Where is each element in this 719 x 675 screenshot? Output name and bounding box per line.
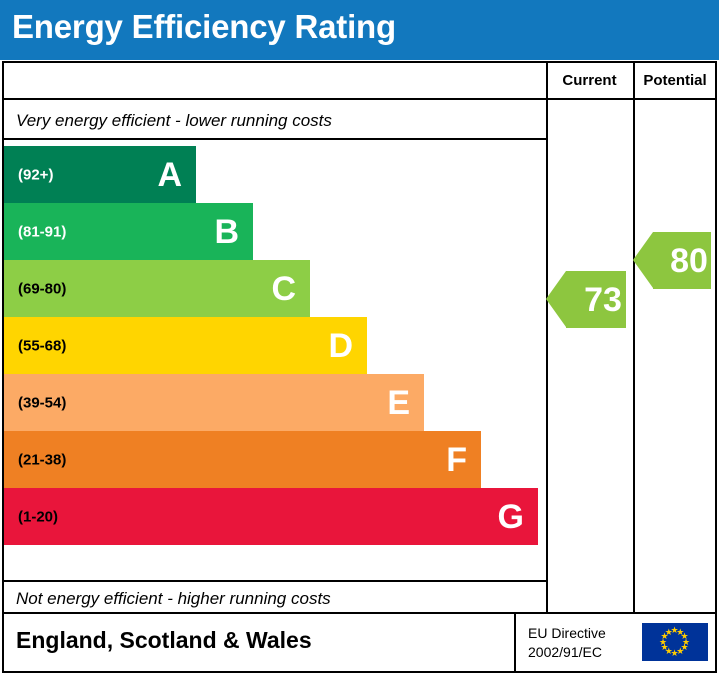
band-b: (81-91) B — [4, 203, 253, 260]
band-e: (39-54) E — [4, 374, 424, 431]
band-d: (55-68) D — [4, 317, 367, 374]
eu-directive-line2: 2002/91/EC — [528, 643, 606, 662]
current-arrow-tip — [546, 271, 566, 327]
band-c-range: (69-80) — [18, 280, 66, 297]
column-header-current: Current — [546, 72, 633, 89]
band-e-letter: E — [387, 386, 410, 420]
top-caption-rule — [4, 138, 546, 140]
band-a-letter: A — [157, 158, 182, 192]
current-rating-value: 73 — [570, 283, 622, 317]
footer-divider — [514, 613, 516, 671]
band-c-letter: C — [271, 272, 296, 306]
page-title: Energy Efficiency Rating — [12, 8, 396, 46]
chart-footer: England, Scotland & Wales EU Directive 2… — [2, 613, 717, 673]
band-d-range: (55-68) — [18, 337, 66, 354]
band-a-range: (92+) — [18, 166, 53, 183]
band-g-range: (1-20) — [18, 508, 58, 525]
band-d-letter: D — [328, 329, 353, 363]
eu-star-icon: ★ — [665, 628, 673, 637]
band-f-range: (21-38) — [18, 451, 66, 468]
caption-bottom: Not energy efficient - higher running co… — [16, 589, 331, 609]
band-g: (1-20) G — [4, 488, 538, 545]
band-g-letter: G — [498, 500, 524, 534]
potential-arrow-tip — [633, 232, 653, 288]
band-f-letter: F — [446, 443, 467, 477]
band-b-range: (81-91) — [18, 223, 66, 240]
band-f: (21-38) F — [4, 431, 481, 488]
potential-rating-value: 80 — [656, 244, 708, 278]
column-divider-current — [546, 63, 548, 612]
epc-chart: Energy Efficiency Rating Current Potenti… — [0, 0, 719, 675]
eu-flag-icon: ★★★★★★★★★★★★ — [642, 623, 708, 661]
column-divider-potential — [633, 63, 635, 612]
chart-frame: Current Potential Very energy efficient … — [2, 61, 717, 614]
caption-top: Very energy efficient - lower running co… — [16, 111, 332, 131]
band-a: (92+) A — [4, 146, 196, 203]
eu-directive-line1: EU Directive — [528, 624, 606, 643]
potential-rating-arrow: 80 — [653, 232, 711, 289]
current-rating-arrow: 73 — [566, 271, 626, 328]
eu-directive-text: EU Directive 2002/91/EC — [528, 624, 606, 662]
bottom-caption-rule — [4, 580, 546, 582]
band-e-range: (39-54) — [18, 394, 66, 411]
band-b-letter: B — [214, 215, 239, 249]
chart-header: Energy Efficiency Rating — [0, 0, 719, 60]
band-c: (69-80) C — [4, 260, 310, 317]
footer-countries: England, Scotland & Wales — [16, 627, 312, 654]
column-header-potential: Potential — [633, 72, 717, 89]
